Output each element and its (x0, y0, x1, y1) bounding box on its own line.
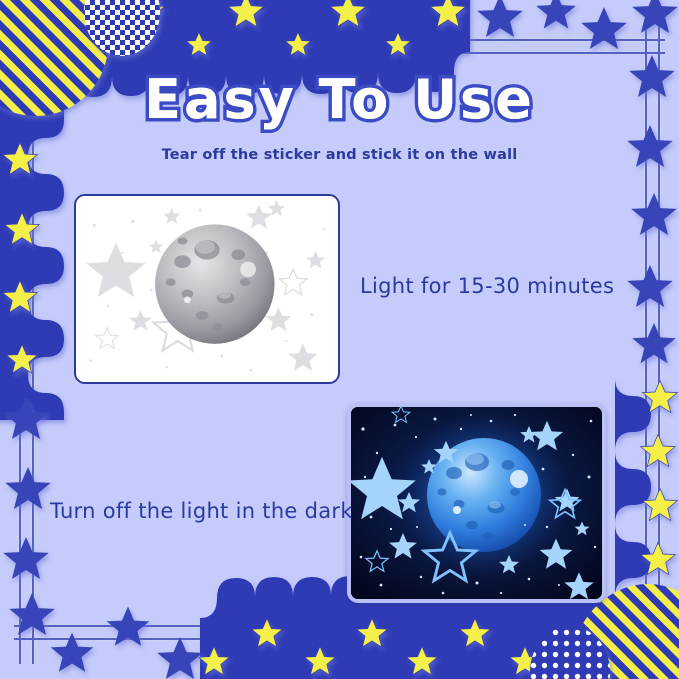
caption-light-step: Light for 15-30 minutes (360, 274, 614, 298)
moon-sticker-glowing-panel (347, 403, 606, 603)
page-subtitle: Tear off the sticker and stick it on the… (0, 147, 679, 163)
poster: Easy To Use Easy To Use Tear off the sti… (0, 0, 679, 679)
poster-content: Easy To Use Easy To Use Tear off the sti… (0, 0, 679, 679)
moon-sticker-lit-panel (74, 194, 340, 384)
grey-moon (155, 224, 274, 343)
page-title-fill: Easy To Use (0, 72, 679, 129)
caption-dark-step: Turn off the light in the dark (50, 499, 353, 523)
